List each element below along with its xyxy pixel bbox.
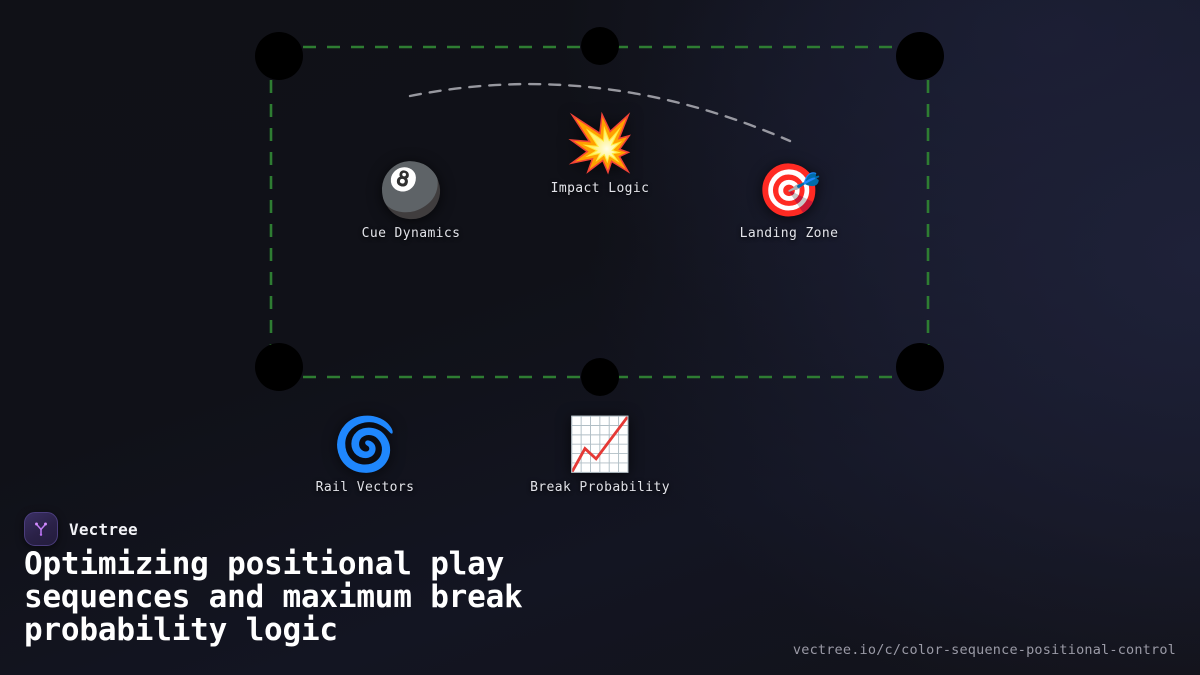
pocket-bottom-middle (581, 358, 619, 396)
tree-node-left (35, 523, 38, 526)
pocket-bottom-right (896, 343, 944, 391)
brand-row: Vectree (24, 512, 138, 546)
tree-glyph-svg (31, 519, 51, 539)
pool-8-ball-icon: 🎱 (379, 165, 444, 217)
node-label: Cue Dynamics (362, 226, 461, 241)
footer: Vectree Optimizing positional play seque… (0, 500, 1200, 675)
node-rail-vectors[interactable]: 🌀Rail Vectors (265, 419, 465, 495)
node-label: Break Probability (530, 480, 670, 495)
slide-canvas: 🎱Cue Dynamics💥Impact Logic🎯Landing Zone🌀… (0, 0, 1200, 675)
tree-node-right (44, 523, 47, 526)
tree-node-root (40, 534, 42, 536)
source-url: vectree.io/c/color-sequence-positional-c… (793, 642, 1176, 658)
brand-name: Vectree (69, 520, 138, 539)
node-label: Impact Logic (551, 181, 650, 196)
chart-increasing-icon: 📈 (568, 419, 633, 471)
target-dart-icon: 🎯 (757, 165, 822, 217)
vectree-logo-icon (24, 512, 58, 546)
node-landing-zone[interactable]: 🎯Landing Zone (689, 165, 889, 241)
node-label: Landing Zone (740, 226, 839, 241)
cyclone-icon: 🌀 (333, 419, 398, 471)
pocket-top-left (255, 32, 303, 80)
pocket-top-right (896, 32, 944, 80)
node-break-probability[interactable]: 📈Break Probability (500, 419, 700, 495)
node-impact-logic[interactable]: 💥Impact Logic (500, 116, 700, 196)
node-cue-dynamics[interactable]: 🎱Cue Dynamics (311, 165, 511, 241)
pocket-bottom-left (255, 343, 303, 391)
node-label: Rail Vectors (316, 480, 415, 495)
headline: Optimizing positional play sequences and… (24, 548, 1034, 647)
pocket-top-middle (581, 27, 619, 65)
collision-icon: 💥 (565, 116, 635, 172)
